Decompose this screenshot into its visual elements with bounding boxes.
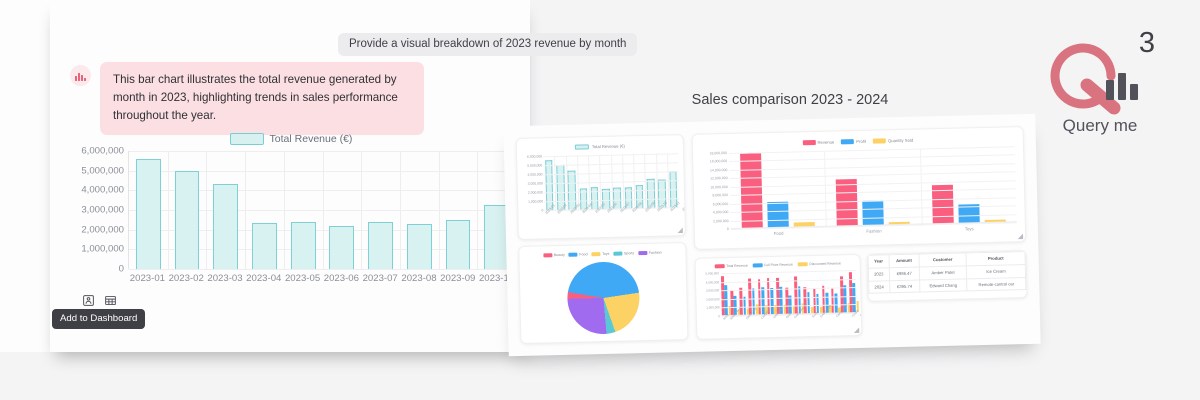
bar[interactable]	[368, 222, 393, 269]
bar-cell[interactable]	[245, 151, 284, 269]
legend-item: Revenue	[802, 139, 834, 145]
bar-cell[interactable]	[400, 151, 439, 269]
add-to-dashboard-tooltip: Add to Dashboard	[52, 309, 145, 329]
brand-name: Query me	[1048, 116, 1152, 136]
table-column-header: Amount	[889, 254, 919, 267]
assistant-message-row: This bar chart illustrates the total rev…	[70, 62, 424, 135]
legend-swatch	[638, 251, 647, 255]
y-axis-labels: 01,000,0002,000,0003,000,0004,000,0005,0…	[696, 273, 720, 317]
table-cell: €986.47	[889, 267, 919, 280]
bar-cell[interactable]	[361, 151, 400, 269]
legend-swatch-total-revenue	[230, 133, 264, 145]
legend-label: Profit	[856, 138, 866, 143]
bar[interactable]	[291, 222, 316, 269]
table-cell: Amber Patel	[919, 266, 967, 280]
bar[interactable]	[761, 288, 764, 315]
chart-plot-area	[128, 151, 516, 269]
legend-label: Revenue	[817, 139, 834, 144]
bar[interactable]	[136, 159, 161, 269]
widget-legend: Total Revenue (€)	[517, 138, 683, 155]
logo-badge-number: 3	[1139, 27, 1155, 60]
legend-item: Profit	[841, 138, 866, 144]
table-column-header: Year	[868, 255, 889, 268]
legend-label-total-revenue: Total Revenue (€)	[592, 143, 625, 149]
bar-cell[interactable]	[439, 151, 478, 269]
widget-category-breakdown-pie[interactable]: BeautyFoodToysSportsFashion	[518, 242, 688, 344]
y-tick-label: 0	[727, 227, 729, 231]
x-tick-label: 2023-01	[128, 273, 167, 284]
transactions-table: YearAmountCustomerProduct 2023€986.47Amb…	[867, 251, 1026, 294]
legend-item: Sports	[613, 251, 634, 255]
y-tick-label: 4,000,000	[81, 185, 124, 196]
app-root: Provide a visual breakdown of 2023 reven…	[0, 0, 1200, 400]
bar-group[interactable]	[920, 146, 1017, 223]
table-row[interactable]: 2024€395.74Edward ChangRemote-control ca…	[869, 277, 1026, 293]
y-tick-label: 5,000,000	[705, 271, 718, 275]
main-revenue-bar-chart[interactable]: Total Revenue (€) 01,000,0002,000,0003,0…	[66, 131, 516, 291]
x-tick-label: 2023-12	[681, 200, 686, 212]
y-tick-label: 2,000,000	[81, 224, 124, 235]
legend-label: Fashion	[649, 251, 662, 255]
resize-handle-icon[interactable]: ◢	[854, 326, 860, 334]
legend-swatch	[569, 253, 578, 257]
bar[interactable]	[446, 220, 471, 269]
y-tick-label: 1,000,000	[81, 244, 124, 255]
chart-bars	[129, 151, 516, 269]
resize-handle-icon[interactable]: ◢	[1018, 232, 1024, 240]
legend-label: Total Revenue	[726, 263, 748, 268]
y-tick-label: 18,000,000	[709, 151, 727, 155]
y-tick-label: 6,000,000	[81, 146, 124, 157]
legend-swatch	[753, 263, 763, 267]
bar[interactable]	[407, 224, 432, 269]
x-tick-label: 2023-03	[206, 273, 245, 284]
legend-swatch	[841, 139, 854, 144]
legend-item: Total Revenue	[714, 263, 747, 268]
bar-cell[interactable]	[206, 151, 245, 269]
bar-group[interactable]	[849, 270, 859, 312]
legend-item: Food	[569, 252, 588, 256]
y-axis-labels: 01,000,0002,000,0003,000,0004,000,0005,0…	[518, 156, 543, 211]
legend-item: Full Price Revenue	[753, 262, 793, 267]
table-column-header: Customer	[919, 253, 967, 267]
legend-item: Discounted Revenue	[798, 261, 841, 266]
legend-swatch	[543, 253, 552, 257]
widget-transactions-table[interactable]: YearAmountCustomerProduct 2023€986.47Amb…	[866, 250, 1027, 302]
legend-label: Food	[579, 252, 587, 256]
bar-cell[interactable]	[168, 151, 207, 269]
y-tick-label: 0	[119, 264, 124, 275]
legend-label: Discounted Revenue	[809, 261, 841, 266]
legend-label: Quantity Sold	[888, 137, 913, 143]
y-tick-label: 8,000,000	[712, 193, 728, 197]
bar-cell[interactable]	[129, 151, 168, 269]
x-tick-label: 2023-05	[283, 273, 322, 284]
legend-label: Toys	[602, 252, 609, 256]
bar-chart-icon	[70, 65, 91, 86]
widget-category-comparison-bar[interactable]: RevenueProfitQuantity Sold 02,000,0004,0…	[692, 126, 1027, 250]
bar[interactable]	[767, 201, 789, 227]
x-tick-label: 2023-02	[167, 273, 206, 284]
y-tick-label: 2,000,000	[528, 190, 543, 194]
table-cell: Remote-control car	[967, 277, 1026, 291]
legend-swatch	[613, 252, 622, 256]
y-tick-label: 3,000,000	[81, 205, 124, 216]
y-tick-label: 3,000,000	[528, 181, 543, 185]
x-tick-label: 2023-07	[361, 273, 400, 284]
x-tick-label: 2023-08	[400, 273, 439, 284]
add-to-dashboard-icon[interactable]	[82, 294, 95, 307]
legend-swatch	[802, 139, 815, 144]
y-tick-label: 16,000,000	[710, 159, 728, 163]
legend-item: Quantity Sold	[873, 137, 913, 143]
bar-cell[interactable]	[284, 151, 323, 269]
bar-cell[interactable]	[323, 151, 362, 269]
legend-swatch-total-revenue	[575, 144, 589, 149]
user-prompt-bubble: Provide a visual breakdown of 2023 reven…	[338, 33, 637, 56]
dashboard-title: Sales comparison 2023 - 2024	[640, 92, 940, 108]
legend-item: Fashion	[638, 251, 661, 256]
pie-chart	[567, 261, 641, 335]
bar[interactable]	[175, 171, 200, 269]
x-tick-label: Toys	[922, 225, 1017, 232]
legend-swatch	[592, 252, 601, 256]
y-tick-label: 1,000,000	[706, 306, 719, 310]
bar[interactable]	[794, 222, 815, 226]
y-axis-labels: 01,000,0002,000,0003,000,0004,000,0005,0…	[66, 151, 124, 269]
chart-plot-area	[729, 146, 1017, 229]
table-view-icon[interactable]	[104, 294, 117, 307]
bar[interactable]	[863, 200, 885, 225]
table-cell: 2024	[869, 280, 890, 293]
widget-revenue-split-bar[interactable]: Total RevenueFull Price RevenueDiscounte…	[695, 254, 863, 340]
y-tick-label: 4,000,000	[706, 280, 719, 284]
resize-handle-icon[interactable]: ◢	[677, 226, 683, 234]
legend-swatch	[798, 262, 808, 266]
legend-item: Beauty	[543, 253, 565, 258]
legend-item: Toys	[592, 252, 610, 256]
bar-group[interactable]	[824, 148, 921, 225]
chart-plot-area	[543, 153, 679, 210]
chart-action-bar[interactable]	[82, 294, 117, 307]
x-tick-label: 2023-04	[244, 273, 283, 284]
bar[interactable]	[213, 184, 238, 269]
y-tick-label: 14,000,000	[710, 168, 728, 172]
chart-legend: Total Revenue (€)	[66, 131, 516, 147]
table-cell: Edward Chang	[919, 278, 967, 292]
y-tick-label: 1,000,000	[528, 199, 543, 203]
bar[interactable]	[252, 223, 277, 269]
y-tick-label: 3,000,000	[706, 288, 719, 292]
x-tick-label: Food	[731, 230, 826, 237]
legend-label: Beauty	[554, 253, 565, 257]
brand-logo[interactable]: 3 Query me	[1048, 30, 1158, 140]
legend-swatch	[873, 138, 886, 143]
bar[interactable]	[568, 171, 576, 210]
y-tick-label: 12,000,000	[710, 176, 728, 180]
dashboard-panel: Total Revenue (€) 01,000,0002,000,0003,0…	[503, 114, 1040, 356]
y-tick-label: 4,000,000	[527, 172, 542, 176]
y-tick-label: 0	[718, 314, 720, 318]
y-tick-label: 5,000,000	[527, 163, 542, 167]
x-tick-label: 2023-06	[322, 273, 361, 284]
bar[interactable]	[740, 153, 763, 227]
y-tick-label: 2,000,000	[706, 297, 719, 301]
legend-swatch	[714, 264, 724, 268]
x-axis-labels: 2023-012023-022023-032023-042023-052023-…	[128, 273, 516, 284]
y-tick-label: 10,000,000	[710, 185, 728, 189]
bar[interactable]	[329, 226, 354, 269]
y-tick-label: 6,000,000	[527, 154, 542, 158]
legend-label: Sports	[624, 251, 634, 255]
y-tick-label: 6,000,000	[713, 202, 729, 206]
x-tick-label: Fashion	[826, 227, 921, 234]
y-tick-label: 5,000,000	[81, 165, 124, 176]
y-tick-label: 4,000,000	[713, 210, 729, 214]
y-axis-labels: 02,000,0004,000,0006,000,0008,000,00010,…	[694, 153, 729, 230]
bar-group[interactable]	[729, 151, 826, 228]
bar[interactable]	[807, 293, 810, 314]
table-cell: 2023	[868, 268, 889, 281]
table-body: 2023€986.47Amber PatelIce Cream2024€395.…	[868, 264, 1026, 293]
widget-legend: BeautyFoodToysSportsFashion	[519, 246, 685, 262]
legend-label-total-revenue: Total Revenue (€)	[270, 133, 353, 145]
assistant-reply-bubble: This bar chart illustrates the total rev…	[100, 62, 424, 135]
legend-label: Full Price Revenue	[764, 262, 793, 267]
table-cell: €395.74	[889, 280, 919, 293]
x-tick-label: 2023-09	[438, 273, 477, 284]
y-tick-label: 2,000,000	[713, 219, 729, 223]
widget-total-revenue-mini[interactable]: Total Revenue (€) 01,000,0002,000,0003,0…	[516, 134, 686, 240]
x-tick-label: Sefton	[859, 308, 862, 317]
